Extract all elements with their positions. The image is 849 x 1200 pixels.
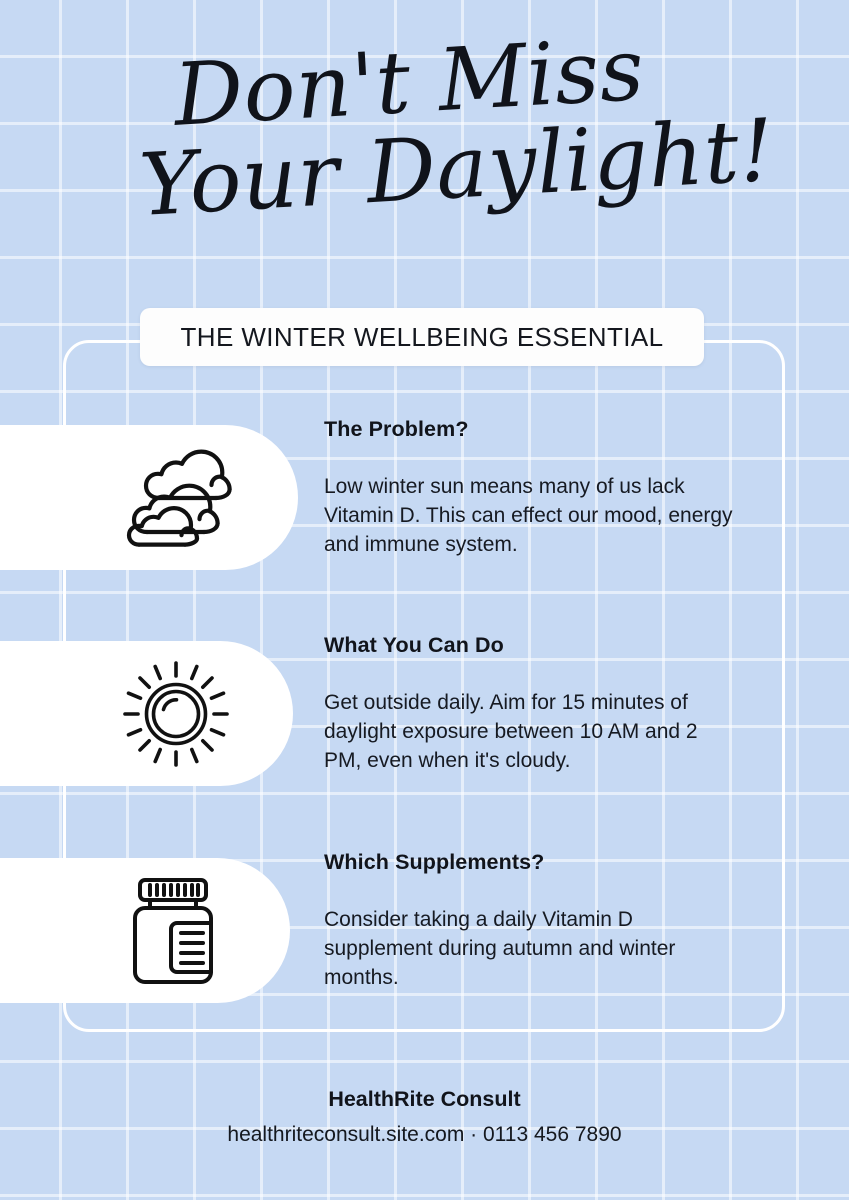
subtitle-banner-label: THE WINTER WELLBEING ESSENTIAL [181, 322, 664, 353]
icon-pill-3 [0, 858, 290, 1003]
section-body-1: Low winter sun means many of us lack Vit… [324, 473, 734, 560]
section-title-3: Which Supplements? [324, 850, 734, 876]
section-body-2: Get outside daily. Aim for 15 minutes of… [324, 689, 734, 776]
clouds-icon [122, 439, 240, 557]
section-text-1: The Problem? Low winter sun means many o… [324, 417, 734, 560]
section-body-3: Consider taking a daily Vitamin D supple… [324, 906, 734, 993]
footer: HealthRite Consult healthriteconsult.sit… [0, 1086, 849, 1148]
section-text-3: Which Supplements? Consider taking a dai… [324, 850, 734, 993]
icon-pill-2 [0, 641, 293, 786]
footer-brand-name: HealthRite Consult [0, 1086, 849, 1114]
subtitle-banner: THE WINTER WELLBEING ESSENTIAL [140, 308, 704, 366]
poster-canvas: Don't Miss Your Daylight! THE WINTER WEL… [0, 0, 849, 1200]
footer-contact-info: healthriteconsult.site.com · 0113 456 78… [0, 1121, 849, 1148]
section-title-1: The Problem? [324, 417, 734, 443]
icon-pill-1 [0, 425, 298, 570]
sun-icon [117, 655, 235, 773]
supplement-bottle-icon [114, 872, 232, 990]
section-title-2: What You Can Do [324, 633, 734, 659]
section-text-2: What You Can Do Get outside daily. Aim f… [324, 633, 734, 776]
